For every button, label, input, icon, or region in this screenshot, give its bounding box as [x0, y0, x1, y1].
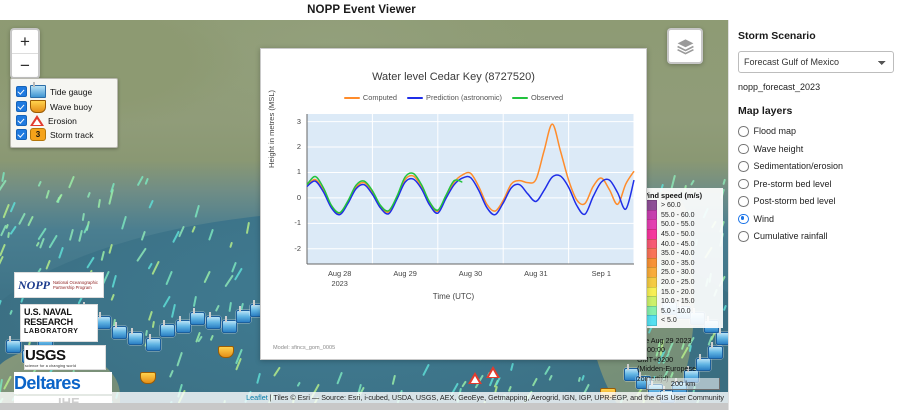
- logo-deltares-word: Deltares: [14, 373, 80, 394]
- layer-radio[interactable]: [738, 161, 749, 172]
- logo-nopp: NOPP National Oceanographic Partnership …: [14, 272, 104, 298]
- wind-speed-legend: Wind speed (m/s) > 60.055.0 - 60.050.0 -…: [637, 188, 723, 328]
- chart-y-tick: -1: [287, 218, 301, 227]
- zoom-out-button[interactable]: −: [12, 54, 38, 77]
- chart-y-tick: 2: [287, 142, 301, 151]
- map-canvas[interactable]: + − Tide gauge Wave buoy Erosion 3 Storm…: [0, 20, 728, 410]
- timeseries-chart-panel[interactable]: Water level Cedar Key (8727520) Computed…: [260, 48, 647, 360]
- chart-legend[interactable]: ComputedPrediction (astronomic)Observed: [261, 93, 646, 102]
- chart-x-tick: Sep 1: [578, 269, 624, 278]
- erosion-icon: [30, 115, 44, 126]
- tide-gauge-marker[interactable]: [236, 310, 251, 323]
- map-legend-panel[interactable]: Tide gauge Wave buoy Erosion 3 Storm tra…: [10, 78, 118, 148]
- layer-option-cumulative-rainfall[interactable]: Cumulative rainfall: [738, 231, 894, 242]
- wind-bin-label: 30.0 - 35.0: [661, 260, 694, 267]
- chart-legend-item[interactable]: Prediction (astronomic): [407, 93, 502, 102]
- chart-legend-swatch: [344, 97, 360, 99]
- wind-bin-label: 35.0 - 40.0: [661, 250, 694, 257]
- attribution-text: | Tiles © Esri — Source: Esri, i-cubed, …: [268, 393, 724, 402]
- layer-label: Wind: [754, 214, 775, 224]
- storm-track-icon: 3: [30, 128, 46, 141]
- layer-radio[interactable]: [738, 144, 749, 155]
- tide-gauge-marker[interactable]: [222, 320, 237, 333]
- map-zoom-control[interactable]: + −: [10, 28, 40, 79]
- chart-y-tick: 0: [287, 193, 301, 202]
- layer-radio[interactable]: [738, 214, 749, 225]
- chart-legend-swatch: [512, 97, 528, 99]
- chart-y-tick: -2: [287, 244, 301, 253]
- erosion-marker[interactable]: [468, 372, 482, 384]
- chart-x-tick-year: 2023: [317, 279, 363, 288]
- wind-bin-label: 50.0 - 55.0: [661, 221, 694, 228]
- tide-gauge-marker[interactable]: [206, 316, 221, 329]
- map-layer-radio-list[interactable]: Flood mapWave heightSedimentation/erosio…: [738, 126, 894, 242]
- timestamp-line-3: GMT+0200: [637, 355, 728, 364]
- leaflet-link[interactable]: Leaflet: [246, 393, 268, 402]
- chart-model-label: Model: sfincs_gom_0005: [273, 345, 335, 351]
- tide-gauge-marker[interactable]: [190, 312, 205, 325]
- layer-label: Wave height: [754, 144, 804, 154]
- chart-x-tick: Aug 31: [513, 269, 559, 278]
- layer-option-wave-height[interactable]: Wave height: [738, 144, 894, 155]
- legend-item-wave-buoy[interactable]: Wave buoy: [16, 100, 112, 113]
- right-sidebar[interactable]: Storm Scenario Forecast Gulf of Mexico n…: [728, 20, 903, 410]
- tide-gauge-marker[interactable]: [160, 324, 175, 337]
- layer-radio[interactable]: [738, 179, 749, 190]
- map-layers-control[interactable]: [667, 28, 703, 64]
- tide-gauge-marker[interactable]: [176, 320, 191, 333]
- wind-bin-label: 55.0 - 60.0: [661, 212, 694, 219]
- chart-x-axis-label: Time (UTC): [261, 292, 646, 301]
- wind-bin-label: 40.0 - 45.0: [661, 241, 694, 248]
- legend-item-tide-gauge[interactable]: Tide gauge: [16, 85, 112, 98]
- wind-bin-label: < 5.0: [661, 317, 677, 324]
- legend-label-erosion: Erosion: [48, 116, 77, 126]
- tide-gauge-marker[interactable]: [146, 338, 161, 351]
- logo-navy-line1: U.S. NAVAL: [24, 307, 94, 317]
- layers-stack-icon: [676, 37, 695, 56]
- scenario-heading: Storm Scenario: [738, 30, 894, 42]
- layer-option-post-storm-bed-level[interactable]: Post-storm bed level: [738, 196, 894, 207]
- wave-buoy-marker[interactable]: [218, 346, 234, 358]
- chart-x-tick: Aug 29: [382, 269, 428, 278]
- wind-bin-label: 25.0 - 30.0: [661, 269, 694, 276]
- chart-legend-item[interactable]: Computed: [344, 93, 397, 102]
- logo-navy-research-lab: U.S. NAVAL RESEARCH LABORATORY: [20, 304, 98, 342]
- map-scale-bar: 200 km: [646, 378, 720, 390]
- map-attribution: Leaflet | Tiles © Esri — Source: Esri, i…: [0, 392, 728, 403]
- chart-title: Water level Cedar Key (8727520): [261, 71, 646, 83]
- wind-bin-label: 5.0 - 10.0: [661, 308, 691, 315]
- layer-option-flood-map[interactable]: Flood map: [738, 126, 894, 137]
- logo-nopp-word: NOPP: [18, 278, 50, 293]
- chart-x-tick: Aug 28: [317, 269, 363, 278]
- layer-label: Sedimentation/erosion: [754, 161, 844, 171]
- chart-legend-label: Observed: [531, 93, 563, 102]
- legend-label-storm-track: Storm track: [50, 130, 93, 140]
- scenario-name-label: nopp_forecast_2023: [738, 82, 894, 92]
- logo-usgs-word: USGS: [25, 347, 76, 364]
- map-layers-heading: Map layers: [738, 105, 894, 117]
- logo-usgs: USGS science for a changing world: [24, 345, 106, 370]
- erosion-marker[interactable]: [486, 366, 500, 378]
- layer-radio[interactable]: [738, 231, 749, 242]
- logo-nopp-tagline: National Oceanographic Partnership Progr…: [53, 280, 103, 290]
- wind-bin-label: 20.0 - 25.0: [661, 279, 694, 286]
- wave-buoy-marker[interactable]: [140, 372, 156, 384]
- chart-legend-label: Prediction (astronomic): [426, 93, 502, 102]
- wave-buoy-checkbox[interactable]: [16, 101, 27, 112]
- tide-gauge-checkbox[interactable]: [16, 86, 27, 97]
- bottom-clipped-strip: [0, 403, 728, 410]
- wind-bin-row: < 5.0: [641, 316, 719, 326]
- tide-gauge-marker[interactable]: [112, 326, 127, 339]
- layer-label: Post-storm bed level: [754, 196, 836, 206]
- chart-plot-area: Height in metres (MSL) Aug 282023Aug 29A…: [261, 108, 646, 303]
- legend-item-storm-track[interactable]: 3 Storm track: [16, 128, 112, 141]
- chart-y-axis-label: Height in metres (MSL): [267, 90, 276, 168]
- wind-timestamp: Tue Aug 29 2023 03:00:00 GMT+0200 (Midde…: [637, 336, 728, 383]
- wind-bin-label: > 60.0: [661, 202, 681, 209]
- tide-gauge-marker[interactable]: [96, 316, 111, 329]
- zoom-in-button[interactable]: +: [12, 30, 38, 54]
- app-title-bar: NOPP Event Viewer: [0, 0, 903, 21]
- chart-x-tick: Aug 30: [448, 269, 494, 278]
- storm-track-checkbox[interactable]: [16, 129, 27, 140]
- storm-scenario-select[interactable]: Forecast Gulf of Mexico: [738, 51, 894, 73]
- page-title: NOPP Event Viewer: [307, 4, 416, 16]
- chart-legend-swatch: [407, 97, 423, 99]
- layer-radio[interactable]: [738, 196, 749, 207]
- wind-bin-label: 45.0 - 50.0: [661, 231, 694, 238]
- chart-y-tick: 3: [287, 117, 301, 126]
- layer-label: Pre-storm bed level: [754, 179, 832, 189]
- layer-radio[interactable]: [738, 126, 749, 137]
- legend-label-tide-gauge: Tide gauge: [50, 87, 92, 97]
- tide-gauge-marker[interactable]: [6, 340, 21, 353]
- chart-legend-label: Computed: [363, 93, 397, 102]
- logo-deltares: Deltares: [14, 372, 112, 394]
- tide-gauge-icon: [30, 85, 46, 98]
- chart-y-tick: 1: [287, 167, 301, 176]
- layer-label: Flood map: [754, 126, 797, 136]
- tide-gauge-marker[interactable]: [128, 332, 143, 345]
- wind-bin-label: 15.0 - 20.0: [661, 289, 694, 296]
- wind-bin-label: 10.0 - 15.0: [661, 298, 694, 305]
- legend-item-erosion[interactable]: Erosion: [16, 115, 112, 126]
- layer-label: Cumulative rainfall: [754, 231, 828, 241]
- layer-option-sedimentation-erosion[interactable]: Sedimentation/erosion: [738, 161, 894, 172]
- logo-usgs-tagline: science for a changing world: [25, 364, 76, 368]
- logo-navy-line3: LABORATORY: [24, 327, 94, 337]
- layer-option-pre-storm-bed-level[interactable]: Pre-storm bed level: [738, 179, 894, 190]
- timestamp-line-1: Tue Aug 29 2023: [637, 336, 728, 345]
- wind-legend-bins: > 60.055.0 - 60.050.0 - 55.045.0 - 50.04…: [641, 201, 719, 326]
- chart-legend-item[interactable]: Observed: [512, 93, 563, 102]
- logo-navy-line2: RESEARCH: [24, 317, 94, 327]
- wind-legend-title: Wind speed (m/s): [641, 191, 719, 200]
- timestamp-line-4: (Midden-Europese: [637, 364, 728, 373]
- erosion-checkbox[interactable]: [16, 115, 27, 126]
- layer-option-wind[interactable]: Wind: [738, 214, 894, 225]
- timestamp-line-2: 03:00:00: [637, 345, 728, 354]
- legend-label-wave-buoy: Wave buoy: [50, 102, 92, 112]
- wave-buoy-icon: [30, 100, 46, 113]
